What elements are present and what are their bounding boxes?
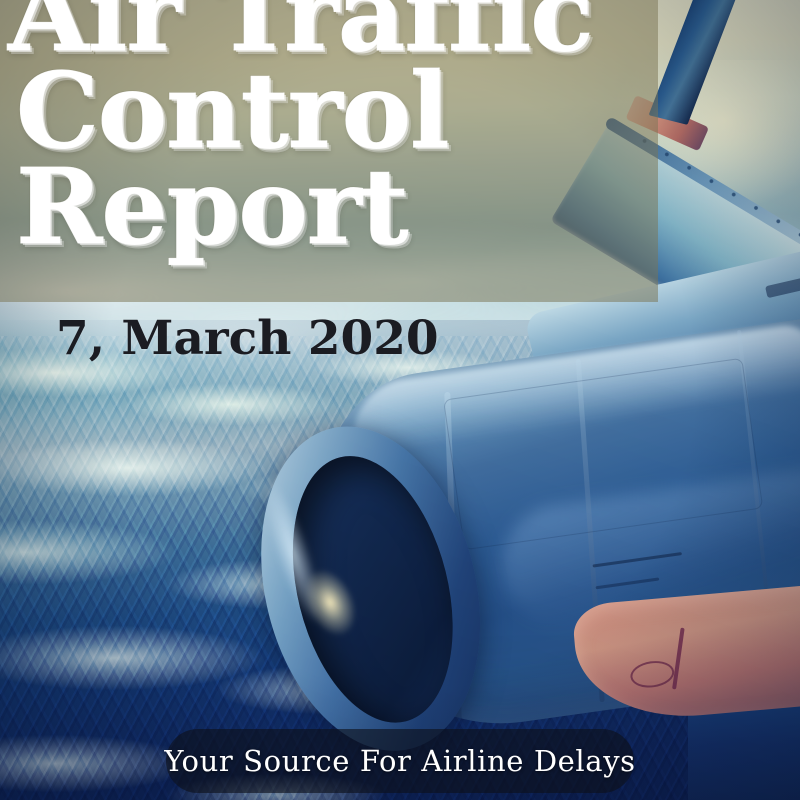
title-line-3: Report xyxy=(10,159,700,256)
report-date: 7, March 2020 xyxy=(56,311,439,366)
tagline-banner: Your Source For Airline Delays xyxy=(166,729,634,793)
page-title: Air Traffic Control Report xyxy=(0,0,700,256)
tagline-text: Your Source For Airline Delays xyxy=(164,744,635,778)
poster-canvas: Air Traffic Control Report 7, March 2020… xyxy=(0,0,800,800)
